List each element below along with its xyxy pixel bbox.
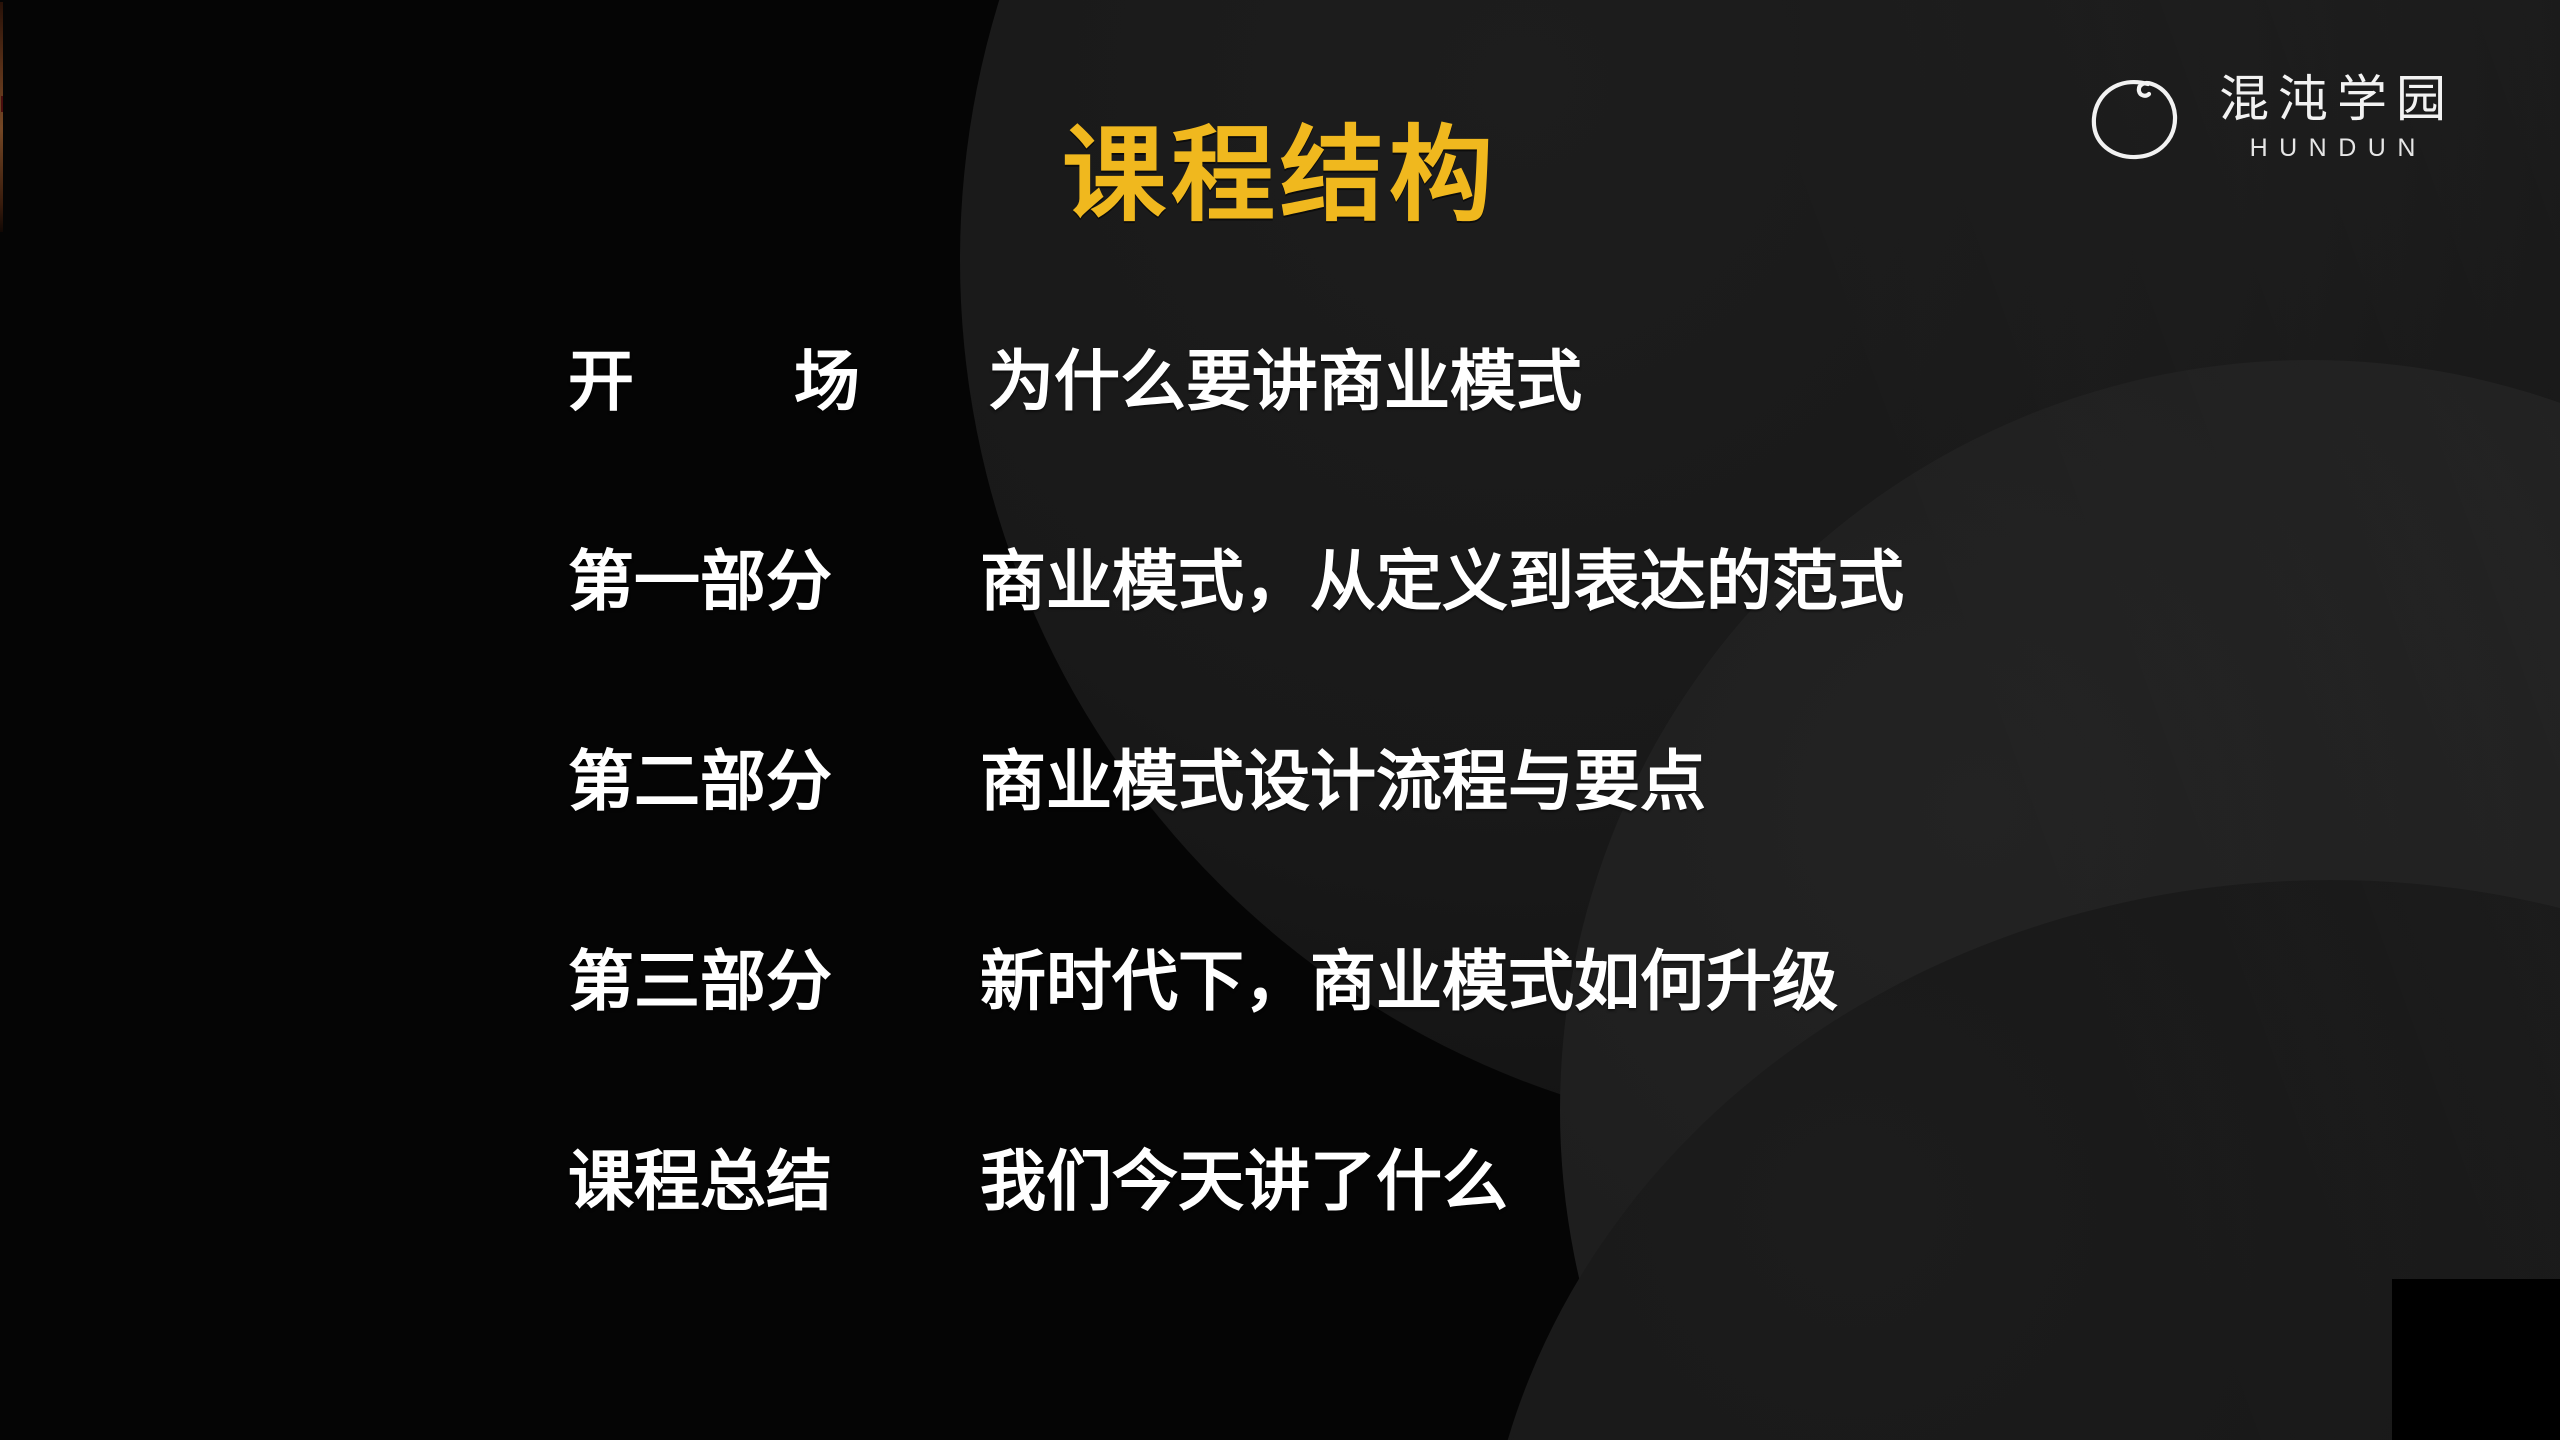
brand-name-cn: 混沌学园 [2210, 74, 2455, 124]
agenda-row-description: 新时代下，商业模式如何升级 [860, 948, 2368, 1014]
agenda-row-label: 课程总结 [568, 1148, 860, 1214]
agenda-row: 第一部分 商业模式，从定义到表达的范式 [568, 548, 2368, 748]
agenda-row-label-left: 开 [568, 348, 634, 414]
agenda-row: 第三部分 新时代下，商业模式如何升级 [568, 948, 2368, 1148]
agenda-row-label: 开 场 [568, 348, 868, 414]
corner-black-patch [2392, 1279, 2560, 1440]
agenda-row-label: 第二部分 [568, 748, 860, 814]
agenda-row: 课程总结 我们今天讲了什么 [568, 1148, 2368, 1348]
agenda-row-description: 商业模式，从定义到表达的范式 [860, 548, 2368, 614]
agenda-row-label-right: 场 [794, 348, 860, 414]
agenda-row: 开 场 为什么要讲商业模式 [568, 348, 2368, 548]
agenda-row-description: 商业模式设计流程与要点 [860, 748, 2368, 814]
agenda-row-description: 我们今天讲了什么 [860, 1148, 2368, 1214]
page-title: 课程结构 [0, 118, 2560, 234]
agenda-row-description: 为什么要讲商业模式 [868, 348, 2368, 414]
agenda-row-label: 第三部分 [568, 948, 860, 1014]
agenda-list: 开 场 为什么要讲商业模式 第一部分 商业模式，从定义到表达的范式 第二部分 商… [568, 348, 2368, 1348]
agenda-row: 第二部分 商业模式设计流程与要点 [568, 748, 2368, 948]
left-edge-artifact-red [1, 96, 3, 112]
agenda-row-label: 第一部分 [568, 548, 860, 614]
slide-canvas: 混沌学园 HUNDUN 课程结构 开 场 为什么要讲商业模式 第一部分 商业模式… [0, 0, 2560, 1440]
